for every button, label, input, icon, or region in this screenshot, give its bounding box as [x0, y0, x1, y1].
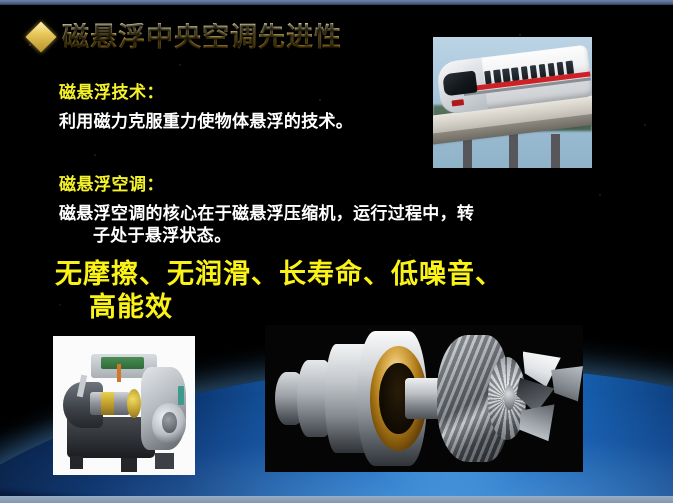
magnetic-bearing-compressor-cutaway [53, 336, 195, 475]
key-benefits-line-2: 高能效 [55, 291, 575, 324]
section-heading: 磁悬浮技术： [59, 78, 353, 103]
train-windshield [442, 70, 478, 96]
compressor-coil [101, 392, 114, 416]
section-body-line-1: 磁悬浮空调的核心在于磁悬浮压缩机，运行过程中，转 [59, 204, 474, 223]
presentation-slide: 磁悬浮中央空调先进性 磁悬浮技术： 利用磁力克服重力使物体悬浮的技术。 磁悬浮空… [0, 0, 673, 503]
section-body-line-2: 子处于悬浮状态。 [59, 225, 589, 247]
section-maglev-technology: 磁悬浮技术： 利用磁力克服重力使物体悬浮的技术。 [59, 78, 353, 133]
compressor-foot [155, 453, 173, 470]
slide-bottom-bar [0, 496, 673, 503]
fan-blade [519, 404, 557, 442]
maglev-train-photo [433, 37, 592, 168]
key-benefits-highlight: 无摩擦、无润滑、长寿命、低噪音、 高能效 [55, 258, 575, 324]
compressor-port [178, 386, 184, 405]
magnetic-bearing-rotor-render [265, 325, 583, 472]
guideway-pier [509, 130, 518, 168]
turbine-hub [504, 385, 515, 410]
diamond-bullet-icon [25, 22, 56, 53]
section-body: 利用磁力克服重力使物体悬浮的技术。 [59, 111, 353, 133]
guideway-pier [551, 134, 560, 168]
compressor-control-board [101, 357, 144, 370]
section-heading: 磁悬浮空调： [59, 170, 589, 195]
compressor-inlet [162, 412, 176, 433]
compressor-coil [127, 389, 141, 418]
key-benefits-line-1: 无摩擦、无润滑、长寿命、低噪音、 [55, 259, 503, 289]
section-maglev-air-conditioner: 磁悬浮空调： 磁悬浮空调的核心在于磁悬浮压缩机，运行过程中，转 子处于悬浮状态。 [59, 170, 589, 247]
compressor-wiring [117, 364, 121, 382]
page-title: 磁悬浮中央空调先进性 [62, 23, 342, 51]
section-body: 磁悬浮空调的核心在于磁悬浮压缩机，运行过程中，转 子处于悬浮状态。 [59, 203, 589, 247]
fan-blade [551, 366, 583, 404]
compressor-foot [70, 456, 83, 470]
slide-title-row: 磁悬浮中央空调先进性 [30, 23, 342, 51]
compressor-foot [121, 458, 137, 472]
